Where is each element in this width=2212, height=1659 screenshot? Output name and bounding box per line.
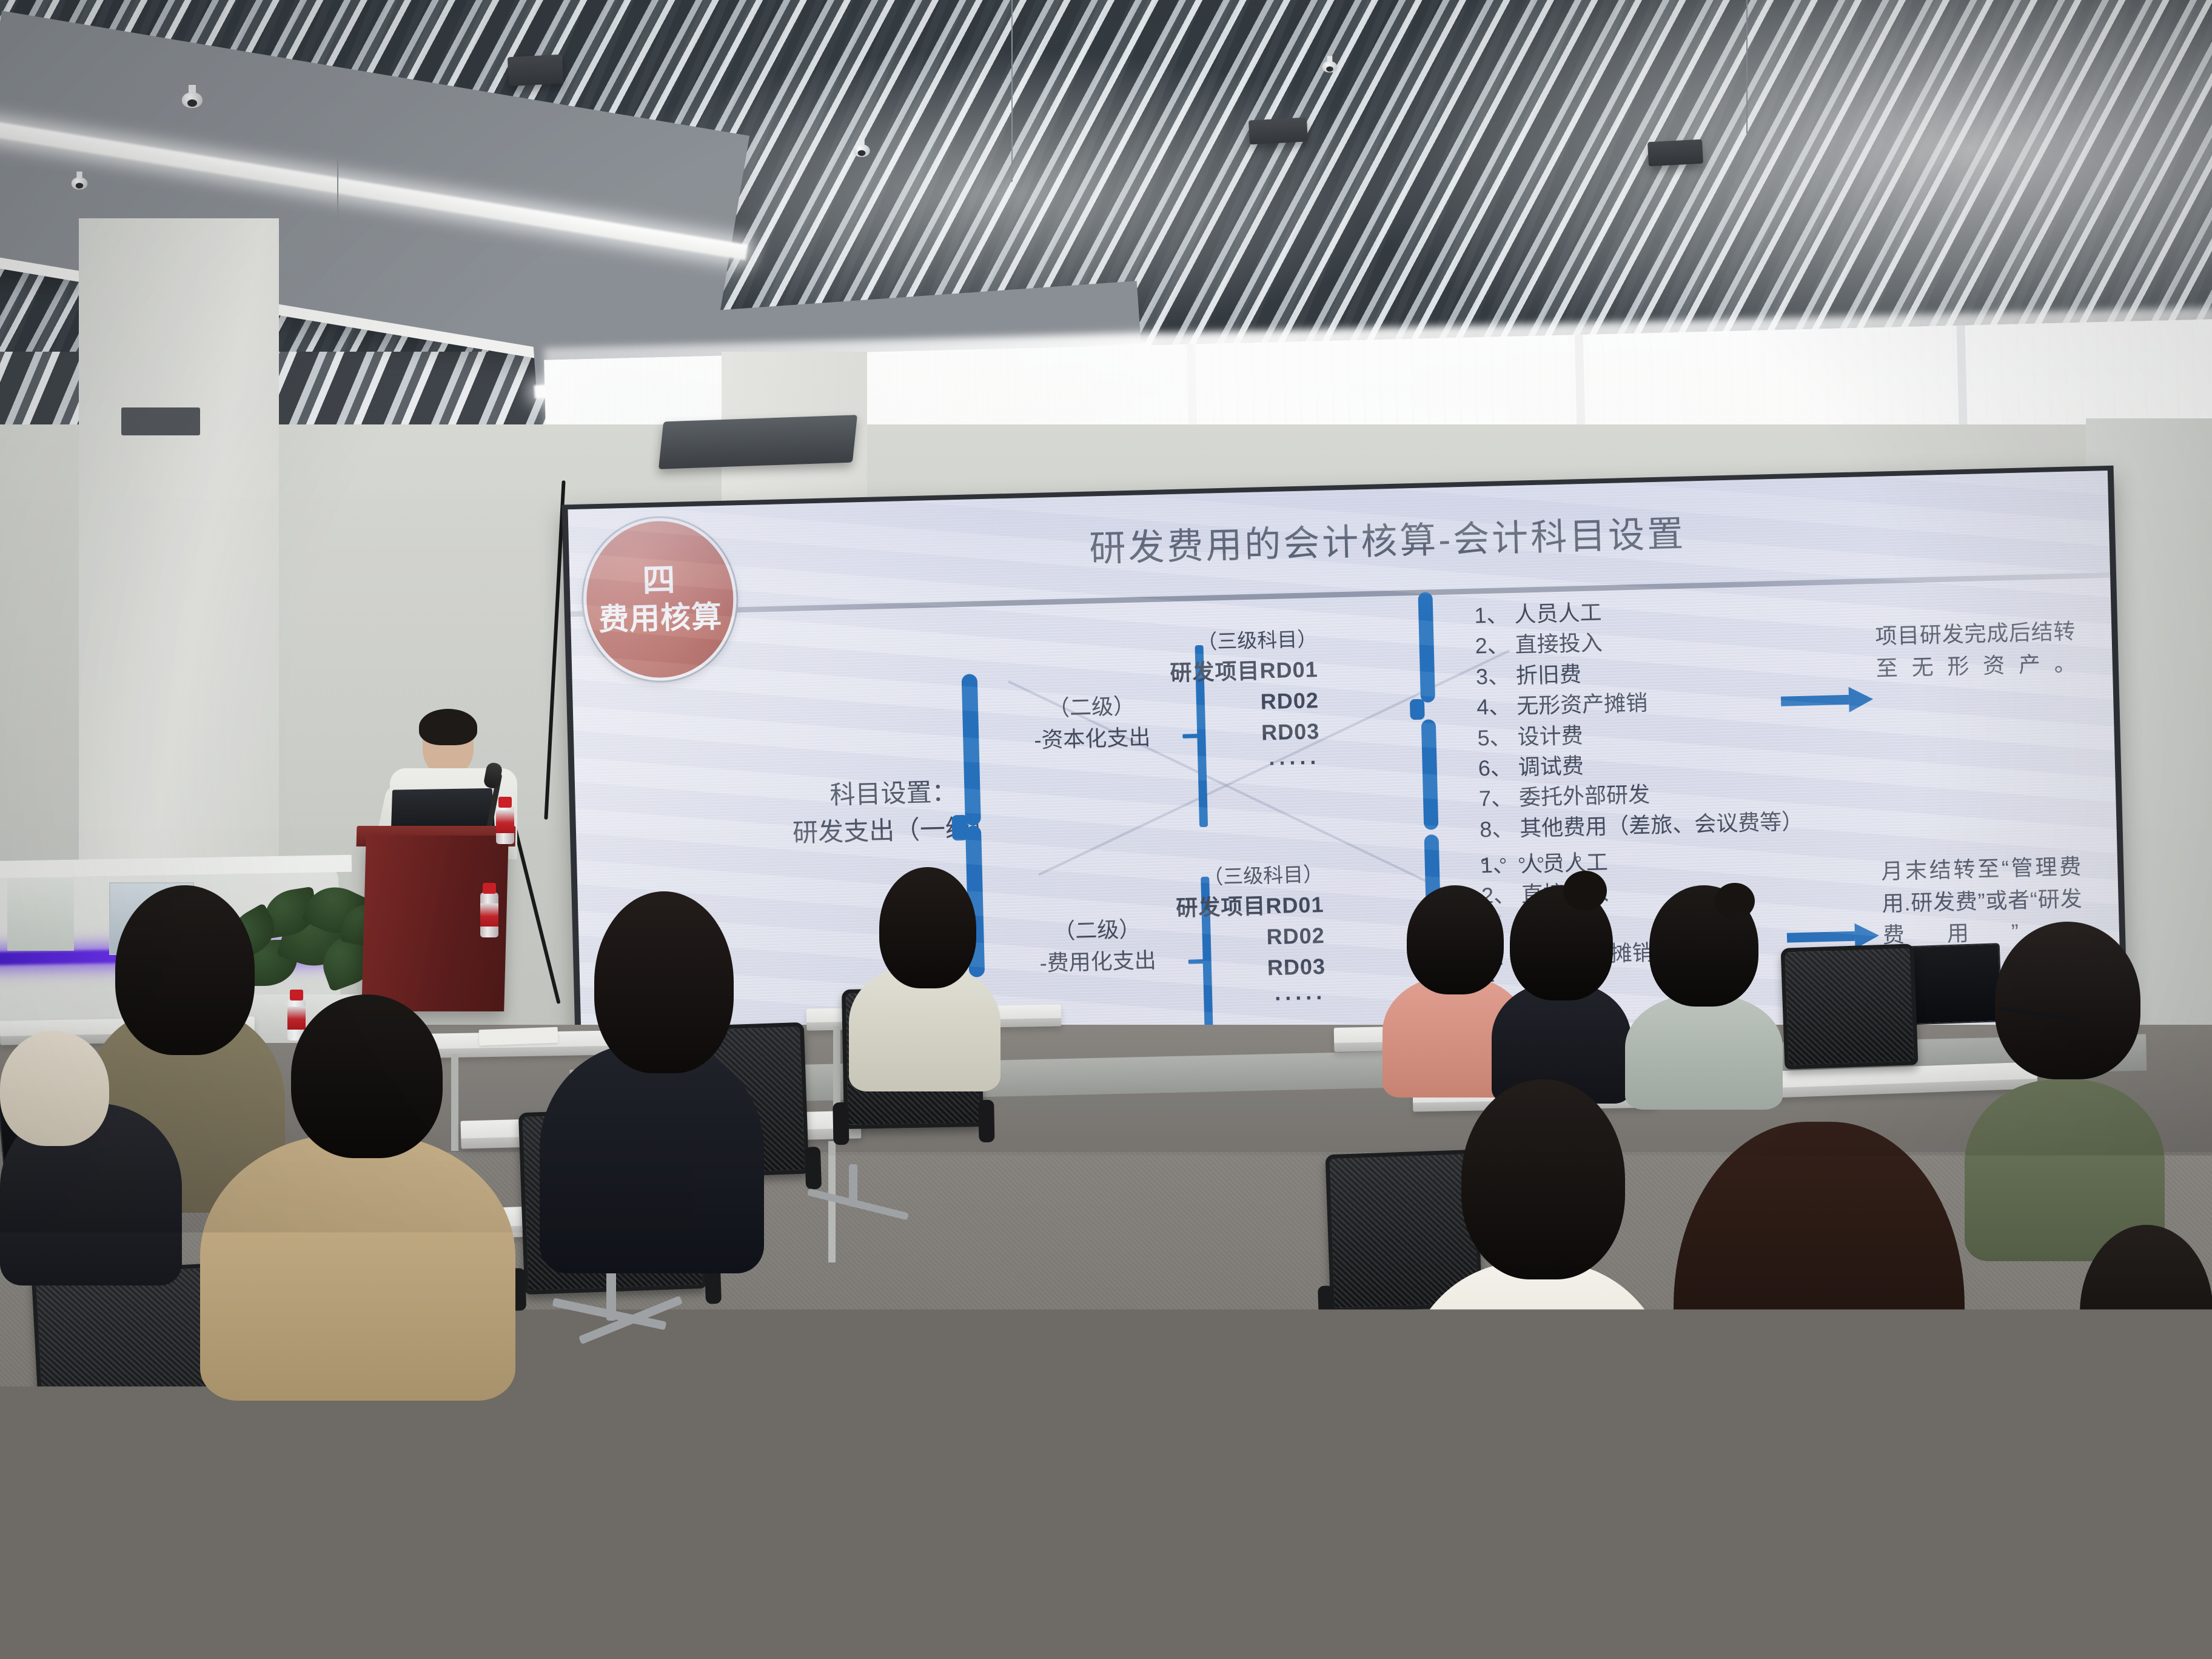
water-bottle: [496, 806, 514, 844]
person-torso: [2074, 1370, 2212, 1659]
audience-member: [1492, 879, 1631, 1085]
person-hair: [879, 867, 976, 988]
lecture-room-photo: 研发费用的会计核算-会计科目设置 四 费用核算 科目设置： 研发支出（一级） （…: [0, 0, 2212, 1659]
section-badge-number: 四: [642, 561, 677, 600]
person-torso: [540, 1043, 764, 1273]
section-badge-label: 费用核算: [598, 598, 723, 639]
water-bottle: [480, 893, 498, 937]
root-account-label: 科目设置： 研发支出（一级）: [757, 772, 1031, 853]
person-legs: [230, 1431, 412, 1659]
presenter-hair: [419, 709, 477, 745]
audience-member: [0, 1031, 182, 1285]
person-hair-bun: [1563, 871, 1607, 911]
slide-title: 研发费用的会计核算-会计科目设置: [993, 502, 1782, 575]
dome-camera-icon: [182, 85, 203, 112]
branch-1-outcome-arrow: [1781, 690, 1874, 711]
audience-member: [849, 867, 1000, 1085]
ceiling-speaker: [1647, 139, 1703, 167]
branch-1-cost-brace: [1407, 592, 1439, 830]
ceiling-wire: [337, 91, 338, 243]
person-hair: [291, 994, 443, 1158]
display-card: [7, 878, 74, 951]
person-hair-bun: [1715, 883, 1755, 919]
dome-camera-icon: [853, 138, 870, 159]
branch-2-outcome-arrow: [1787, 927, 1880, 947]
audience-member: [230, 1431, 412, 1659]
person-hair: [1995, 922, 2140, 1079]
office-chair[interactable]: [1781, 943, 1919, 1070]
branch-1-third-level: （三级科目） 研发项目RD01 RD02 RD03 ·····: [1062, 625, 1321, 784]
ceiling-wire: [1746, 0, 1748, 133]
audience-member: [1637, 1122, 2013, 1659]
person-torso: [1407, 1261, 1667, 1516]
branch-1-third-level-ellipsis: ·····: [1065, 746, 1321, 784]
pa-speaker: [659, 415, 857, 469]
root-account-line1: 科目设置：: [757, 772, 1030, 816]
audience-member: [540, 891, 764, 1267]
wall-vent: [121, 407, 200, 435]
title-divider: [571, 572, 2113, 617]
ceiling-speaker: [508, 55, 563, 87]
dome-camera-icon: [72, 172, 88, 192]
dome-camera-icon: [1322, 56, 1337, 75]
root-account-line2: 研发支出（一级）: [757, 809, 1031, 853]
branch-1-cost-items: 1、 人员人工 2、 直接投入 3、 折旧费 4、 无形资产摊销 5、 设计费 …: [1474, 592, 1805, 870]
branch-2-third-level-ellipsis: ·····: [1071, 982, 1327, 1019]
ceiling-wire: [1011, 0, 1013, 182]
audience-member: [1625, 885, 1783, 1098]
person-hair: [0, 1031, 109, 1146]
person-hair: [594, 891, 734, 1073]
chair-post: [606, 1267, 616, 1321]
chair-post: [849, 1164, 857, 1207]
person-hair: [1674, 1122, 1965, 1522]
person-hair: [1407, 885, 1504, 994]
audience-member: [2074, 1225, 2212, 1659]
person-hair: [1461, 1079, 1625, 1279]
person-hair: [2080, 1225, 2212, 1401]
branch-1-outcome-text: 项目研发完成后结转至无形资产。: [1875, 615, 2077, 684]
audience-member: [1407, 1079, 1667, 1504]
branch-2-third-level: （三级科目） 研发项目RD01 RD02 RD03 ·····: [1068, 860, 1327, 1019]
section-badge: 四 费用核算: [581, 516, 739, 682]
ceiling-speaker: [1248, 118, 1308, 145]
